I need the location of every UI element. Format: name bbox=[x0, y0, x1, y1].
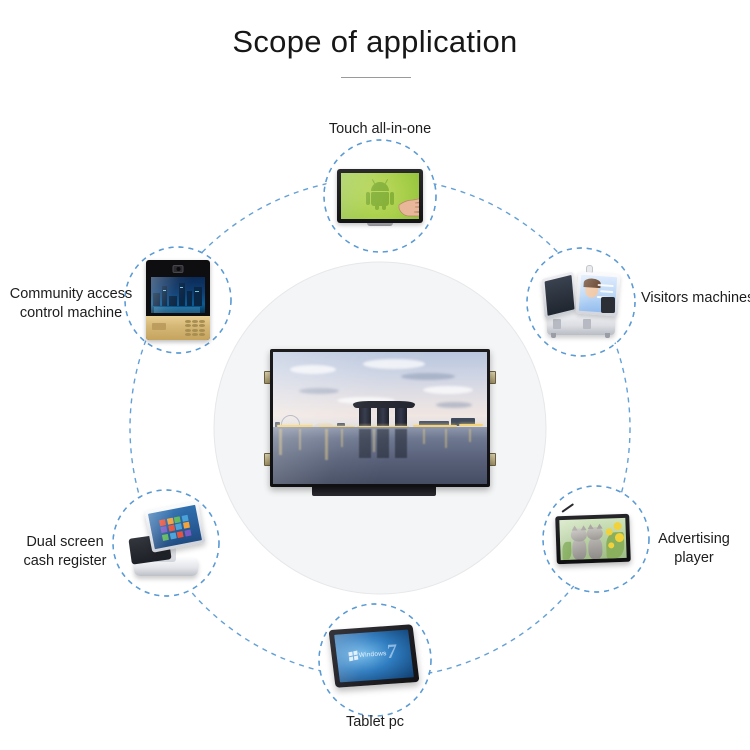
camera-icon bbox=[173, 265, 184, 273]
windows-desktop-screen: Windows 7 bbox=[334, 630, 414, 683]
android-screen bbox=[341, 173, 419, 219]
kitten-photo-screen bbox=[559, 518, 626, 560]
visitors-machine-icon bbox=[539, 267, 623, 339]
skypark-deck-icon bbox=[353, 401, 415, 408]
lcd-screen-image bbox=[273, 352, 487, 484]
cash-register-icon bbox=[128, 504, 204, 580]
keypad-panel[interactable] bbox=[146, 316, 210, 340]
monitor-bezel bbox=[337, 169, 423, 223]
pointing-hand-icon bbox=[397, 191, 419, 217]
kitten-icon bbox=[588, 537, 603, 559]
lcd-display-panel bbox=[264, 349, 496, 501]
tablet-bezel: Windows 7 bbox=[329, 624, 420, 687]
label-touch-all-in-one: Touch all-in-one bbox=[255, 120, 505, 139]
pos-main-display bbox=[144, 501, 205, 553]
infographic-canvas: Scope of application bbox=[0, 0, 750, 750]
touch-all-in-one-icon bbox=[337, 169, 423, 227]
windows-logo-icon bbox=[348, 651, 358, 662]
tablet-pc-icon: Windows 7 bbox=[332, 627, 418, 689]
numeric-keypad[interactable] bbox=[185, 320, 205, 336]
card-reader-icon bbox=[601, 297, 615, 313]
label-visitors-machines: Visitors machines bbox=[641, 289, 750, 308]
advertising-player-icon bbox=[556, 511, 632, 565]
access-control-icon bbox=[146, 260, 210, 340]
display-bezel bbox=[555, 514, 631, 565]
tile-grid bbox=[159, 515, 191, 541]
lcd-bezel bbox=[270, 349, 490, 487]
windows-wordmark: Windows bbox=[358, 650, 387, 659]
access-panel-body bbox=[146, 260, 210, 340]
label-community-access-control: Community access control machine bbox=[2, 285, 140, 323]
android-robot-icon bbox=[366, 182, 394, 210]
label-dual-screen-cash-register: Dual screen cash register bbox=[10, 533, 120, 571]
label-advertising-player: Advertising player bbox=[642, 530, 746, 568]
brand-logo bbox=[152, 323, 166, 330]
label-tablet-pc: Tablet pc bbox=[300, 713, 450, 732]
kiosk-secondary-screen bbox=[541, 271, 576, 318]
windows-seven-numeral: 7 bbox=[386, 640, 396, 664]
windows-tiles-screen bbox=[148, 505, 202, 549]
city-skyline-screen bbox=[151, 277, 205, 313]
